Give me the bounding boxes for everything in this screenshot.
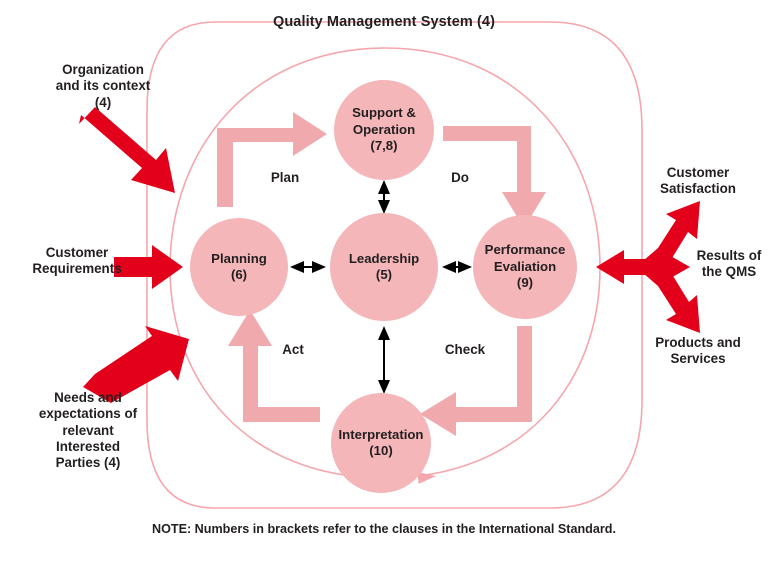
process-name-interpretation: Interpretation (335, 427, 428, 444)
process-clause-support-operation: (7,8) (348, 138, 420, 155)
input-label-customer-requirements: CustomerRequirements (2, 245, 152, 278)
output-arrow-results (596, 250, 690, 284)
process-name-planning: Planning (207, 251, 271, 268)
cycle-label-do: Do (430, 170, 490, 186)
cycle-arrow-plan (217, 112, 327, 207)
output-label-products-services: Products andServices (628, 335, 768, 368)
footer-note: NOTE: Numbers in brackets refer to the c… (0, 522, 768, 537)
process-circle-planning[interactable]: Planning (6) (190, 218, 288, 316)
process-circle-interpretation[interactable]: Interpretation (10) (331, 393, 431, 493)
output-label-results-of-qms: Results ofthe QMS (690, 248, 768, 281)
process-name-performance-evaluation: PerformanceEvaliation (481, 242, 570, 275)
input-arrow-organization (79, 107, 175, 193)
cycle-label-act: Act (258, 342, 328, 358)
cycle-label-check: Check (425, 342, 505, 358)
arrowhead-left-planning (290, 261, 304, 273)
input-label-organization: Organizationand its context(4) (8, 62, 198, 111)
page-title: Quality Management System (4) (0, 14, 768, 32)
input-label-needs-expectations: Needs andexpectations ofrelevantInterest… (8, 390, 168, 472)
process-clause-performance-evaluation: (9) (481, 275, 570, 292)
arrowhead-up-support (378, 180, 390, 194)
cycle-label-plan: Plan (250, 170, 320, 186)
process-clause-interpretation: (10) (335, 443, 428, 460)
process-circle-leadership[interactable]: Leadership (5) (330, 213, 438, 321)
arrowhead-right-performance (458, 261, 472, 273)
arrowhead-up-leadership-bottom (378, 326, 390, 340)
arrowhead-left-leadership-right (442, 261, 456, 273)
arrowhead-down-interpretation (378, 380, 390, 394)
output-arrow-cluster (596, 201, 700, 333)
output-label-customer-satisfaction: CustomerSatisfaction (628, 165, 768, 198)
arrowhead-down-leadership-top (378, 200, 390, 214)
process-name-support-operation: Support &Operation (348, 105, 420, 138)
process-circle-support-operation[interactable]: Support &Operation (7,8) (334, 80, 434, 180)
arrowhead-right-leadership-left (312, 261, 326, 273)
process-clause-leadership: (5) (345, 267, 423, 284)
process-circle-performance-evaluation[interactable]: PerformanceEvaliation (9) (473, 215, 577, 319)
process-name-leadership: Leadership (345, 251, 423, 268)
qms-diagram: Quality Management System (4) Support &O… (0, 0, 768, 564)
process-clause-planning: (6) (207, 267, 271, 284)
cycle-arrow-act (228, 310, 320, 422)
